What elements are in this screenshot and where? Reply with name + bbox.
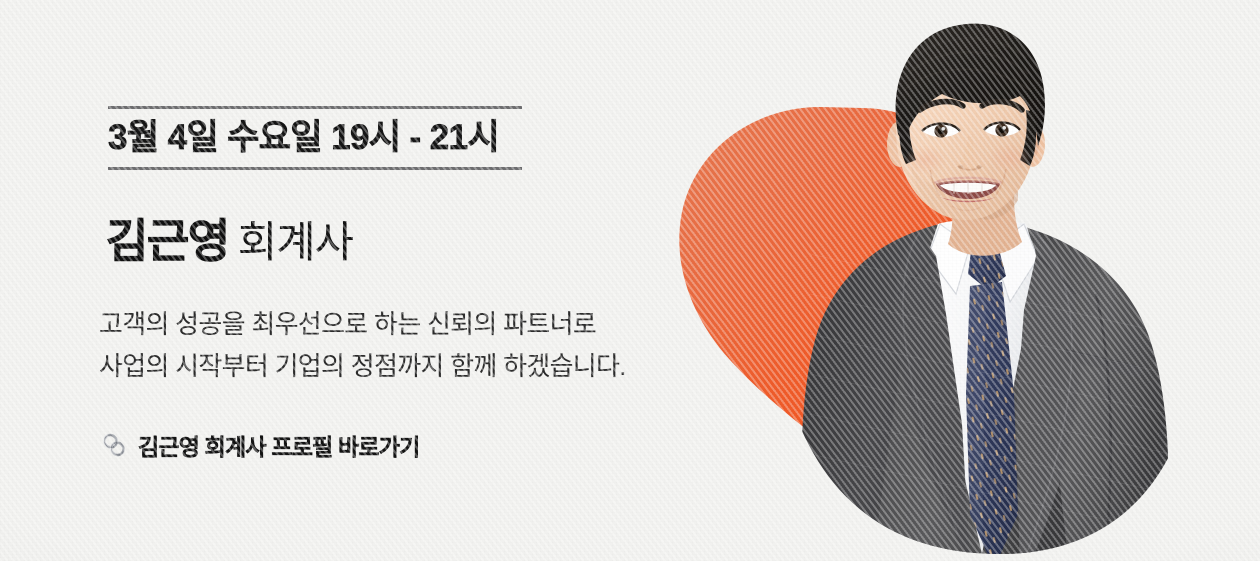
description-line-2: 사업의 시작부터 기업의 정점까지 함께 하겠습니다. <box>99 345 719 387</box>
profile-link-label: 김근영 회계사 프로필 바로가기 <box>138 428 419 462</box>
description-line-1: 고객의 성공을 최우선으로 하는 신뢰의 파트너로 <box>99 303 719 345</box>
schedule-block: 3월 4일 수요일 19시 - 21시 <box>108 106 522 170</box>
date-rule-bottom <box>108 167 522 170</box>
speaker-title: 회계사 <box>238 219 353 267</box>
speaker-name: 김근영 <box>106 215 229 267</box>
profile-link[interactable]: 김근영 회계사 프로필 바로가기 <box>100 428 419 462</box>
speaker-name-line: 김근영회계사 <box>106 218 353 265</box>
speaker-portrait <box>770 0 1190 561</box>
banner-text-column: 3월 4일 수요일 19시 - 21시 김근영회계사 고객의 성공을 최우선으로… <box>0 0 660 561</box>
link-chain-icon <box>100 431 128 459</box>
speaker-promo-banner: 3월 4일 수요일 19시 - 21시 김근영회계사 고객의 성공을 최우선으로… <box>0 0 1260 561</box>
schedule-date-text: 3월 4일 수요일 19시 - 21시 <box>108 109 522 167</box>
speaker-description: 고객의 성공을 최우선으로 하는 신뢰의 파트너로 사업의 시작부터 기업의 정… <box>99 303 719 387</box>
